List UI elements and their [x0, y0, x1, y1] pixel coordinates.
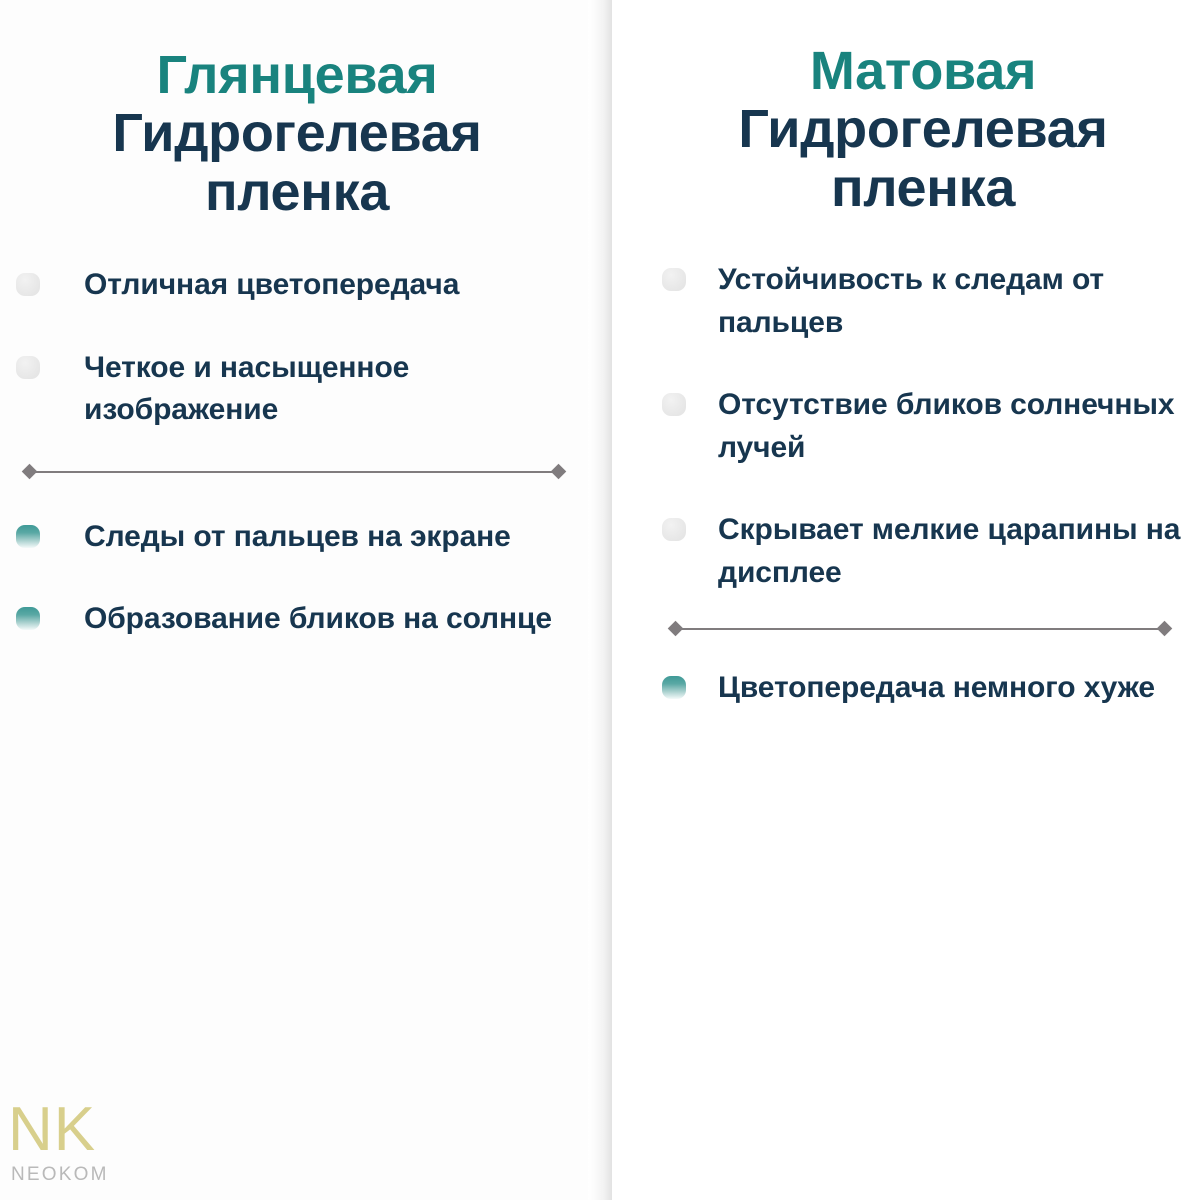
- feature-text: Отличная цветопередача: [84, 264, 459, 307]
- list-item: Отсутствие бликов солнечных лучей: [662, 384, 1184, 469]
- pro-bullet-icon: [662, 268, 686, 291]
- column-heading-glossy: Глянцевая Гидрогелевая пленка: [16, 0, 578, 221]
- list-item: Четкое и насыщенное изображение: [16, 347, 578, 432]
- pros-cons-separator: [24, 466, 564, 478]
- pro-bullet-icon: [16, 273, 40, 296]
- list-item: Следы от пальцев на экране: [16, 516, 578, 559]
- brand-logo: NK NEOKOM: [8, 1099, 109, 1184]
- feature-text: Четкое и насыщенное изображение: [84, 347, 578, 432]
- separator-rule: [35, 471, 553, 473]
- pro-bullet-icon: [16, 356, 40, 379]
- list-item: Цветопередача немного хуже: [662, 667, 1184, 710]
- cons-list-matte: Цветопередача немного хуже: [662, 667, 1184, 710]
- feature-text: Образование бликов на солнце: [84, 598, 552, 641]
- pros-cons-separator: [670, 623, 1170, 635]
- con-bullet-icon: [16, 525, 40, 548]
- pro-bullet-icon: [662, 518, 686, 541]
- heading-product-label: Гидрогелевая пленка: [662, 100, 1184, 217]
- heading-finish-label: Матовая: [662, 42, 1184, 100]
- pro-bullet-icon: [662, 393, 686, 416]
- feature-text: Отсутствие бликов солнечных лучей: [718, 384, 1184, 469]
- comparison-infographic: Глянцевая Гидрогелевая пленка Отличная ц…: [0, 0, 1200, 1200]
- heading-product-label: Гидрогелевая пленка: [16, 104, 578, 221]
- brand-monogram: NK: [8, 1099, 109, 1161]
- diamond-left-icon: [22, 464, 38, 480]
- feature-text: Скрывает мелкие царапины на дисплее: [718, 509, 1184, 594]
- pros-list-matte: Устойчивость к следам от пальцев Отсутст…: [662, 259, 1184, 595]
- diamond-right-icon: [1157, 621, 1173, 637]
- column-heading-matte: Матовая Гидрогелевая пленка: [662, 0, 1184, 217]
- feature-text: Устойчивость к следам от пальцев: [718, 259, 1184, 344]
- comparison-column-glossy: Глянцевая Гидрогелевая пленка Отличная ц…: [0, 0, 600, 1200]
- feature-text: Цветопередача немного хуже: [718, 667, 1155, 710]
- diamond-right-icon: [551, 464, 567, 480]
- list-item: Скрывает мелкие царапины на дисплее: [662, 509, 1184, 594]
- comparison-columns: Глянцевая Гидрогелевая пленка Отличная ц…: [0, 0, 1200, 1200]
- separator-rule: [681, 628, 1159, 630]
- diamond-left-icon: [668, 621, 684, 637]
- list-item: Устойчивость к следам от пальцев: [662, 259, 1184, 344]
- list-item: Образование бликов на солнце: [16, 598, 578, 641]
- brand-name-label: NEOKOM: [11, 1165, 109, 1184]
- cons-list-glossy: Следы от пальцев на экране Образование б…: [16, 516, 578, 641]
- feature-text: Следы от пальцев на экране: [84, 516, 511, 559]
- list-item: Отличная цветопередача: [16, 264, 578, 307]
- con-bullet-icon: [662, 676, 686, 699]
- comparison-column-matte: Матовая Гидрогелевая пленка Устойчивость…: [600, 0, 1200, 1200]
- con-bullet-icon: [16, 607, 40, 630]
- heading-finish-label: Глянцевая: [16, 46, 578, 104]
- pros-list-glossy: Отличная цветопередача Четкое и насыщенн…: [16, 264, 578, 432]
